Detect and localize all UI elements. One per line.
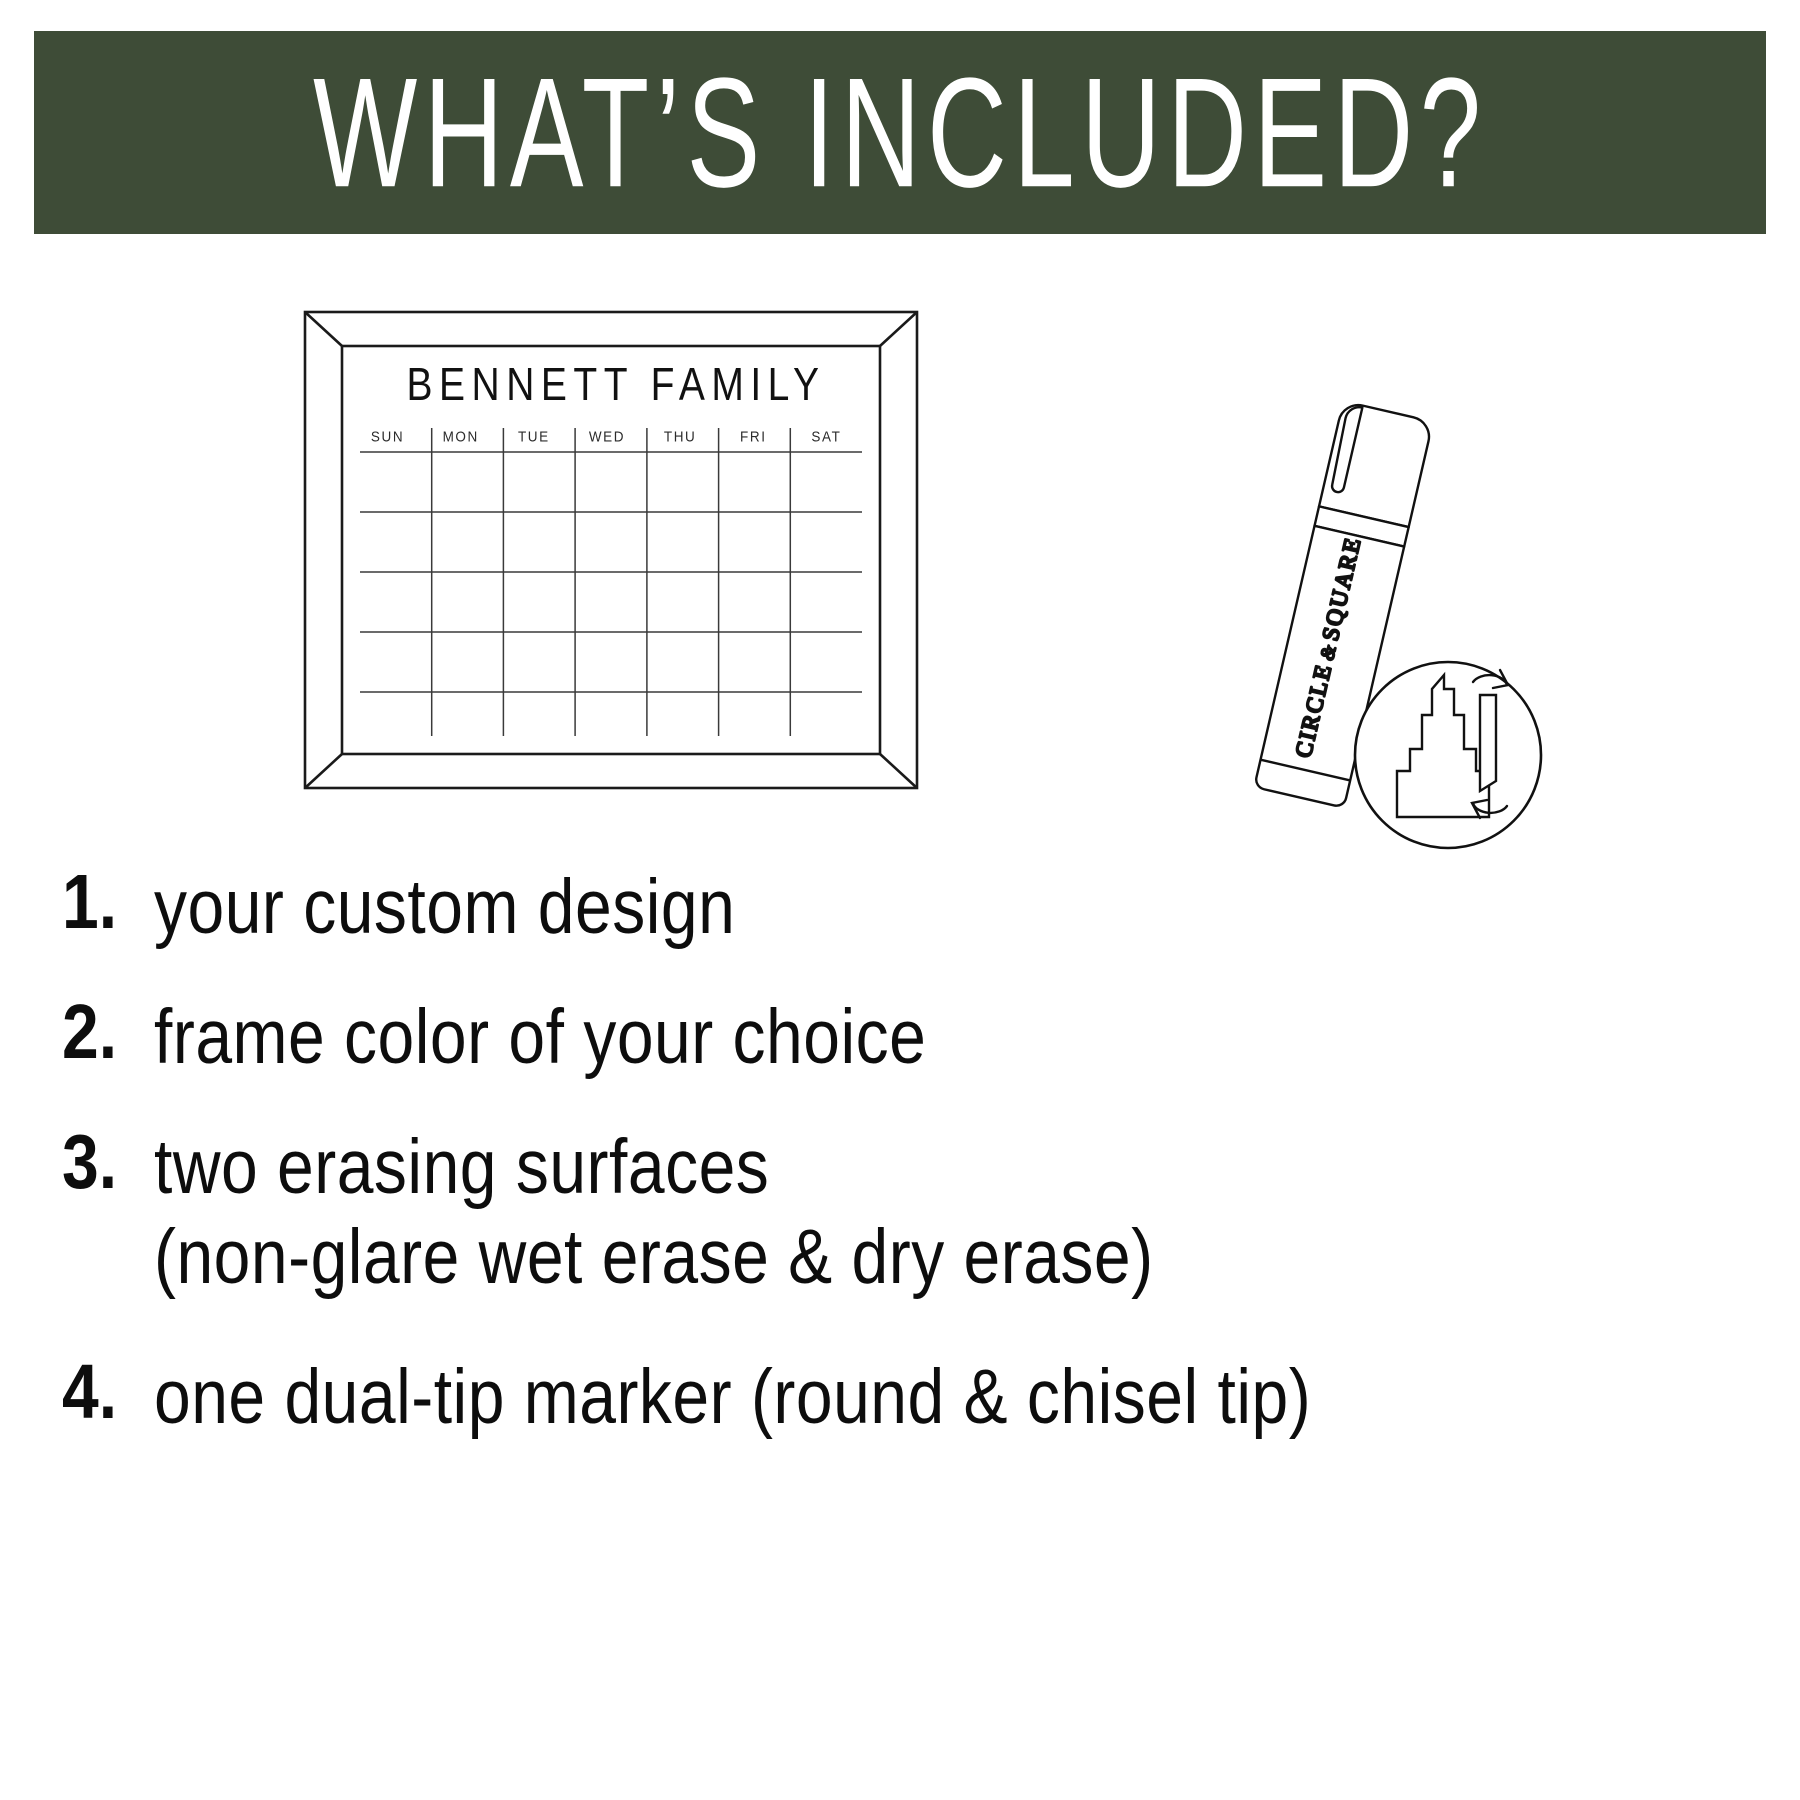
frame-mitre-bottom-left [305, 754, 342, 788]
list-item-body: two erasing surfaces (non-glare wet eras… [154, 1122, 1762, 1290]
marker-illustration: CIRCLE & SQUARE [1190, 370, 1630, 870]
frame-inner-edge [342, 346, 880, 754]
list-item-text: frame color of your choice [154, 992, 1762, 1082]
header-banner: WHAT’S INCLUDED? [34, 31, 1766, 234]
list-item-body: one dual-tip marker (round & chisel tip) [154, 1352, 1762, 1430]
frame-mitre-top-left [305, 312, 342, 346]
list-item-text: one dual-tip marker (round & chisel tip) [154, 1352, 1762, 1442]
infographic-page: WHAT’S INCLUDED? [0, 0, 1800, 1800]
list-item: 4. one dual-tip marker (round & chisel t… [62, 1352, 1762, 1430]
list-item-text: your custom design [154, 862, 1762, 952]
weekday-mon: MON [424, 428, 497, 455]
weekday-fri: FRI [717, 428, 790, 455]
chisel-tip-icon [1480, 695, 1496, 791]
included-items-list: 1. your custom design 2. frame color of … [62, 862, 1762, 1481]
calendar-board-drawing [296, 300, 936, 800]
calendar-board-illustration: BENNETT FAMILY SUN MON TUE WED THU FRI S… [296, 300, 936, 800]
list-item-number: 4. [62, 1352, 154, 1433]
weekday-tue: TUE [497, 428, 570, 455]
list-item-body: frame color of your choice [154, 992, 1762, 1070]
list-item-number: 2. [62, 992, 154, 1073]
calendar-weekday-header: SUN MON TUE WED THU FRI SAT [351, 428, 863, 452]
list-item: 1. your custom design [62, 862, 1762, 940]
list-item-body: your custom design [154, 862, 1762, 940]
weekday-thu: THU [644, 428, 717, 455]
weekday-sat: SAT [790, 428, 863, 455]
frame-mitre-bottom-right [880, 754, 917, 788]
marker-drawing: CIRCLE & SQUARE [1190, 370, 1630, 870]
marker-tip-badge [1355, 662, 1541, 848]
list-item-text: two erasing surfaces [154, 1122, 1762, 1212]
list-item-number: 3. [62, 1122, 154, 1203]
page-title: WHAT’S INCLUDED? [313, 55, 1487, 211]
frame-outer-edge [305, 312, 917, 788]
list-item-number: 1. [62, 862, 154, 943]
weekday-sun: SUN [351, 428, 424, 455]
calendar-grid [360, 428, 862, 736]
list-item: 3. two erasing surfaces (non-glare wet e… [62, 1122, 1762, 1290]
list-item: 2. frame color of your choice [62, 992, 1762, 1070]
weekday-wed: WED [570, 428, 643, 455]
frame-mitre-top-right [880, 312, 917, 346]
list-item-text-secondary: (non-glare wet erase & dry erase) [154, 1212, 1762, 1302]
